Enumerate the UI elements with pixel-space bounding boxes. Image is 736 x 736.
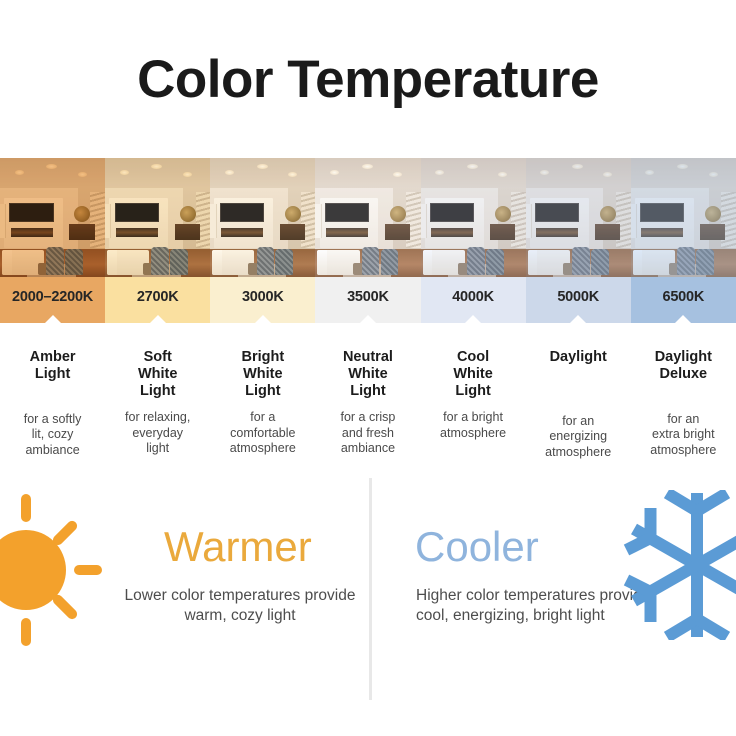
temperature-column: 6500K <box>631 158 736 323</box>
light-type-description-line: extra bright <box>652 427 715 441</box>
swatch-notch <box>149 315 167 323</box>
photo-glow-overlay <box>105 158 210 277</box>
room-photo <box>631 158 736 277</box>
light-type-name: CoolWhiteLight <box>426 349 521 400</box>
light-type-description-line: for an <box>667 412 699 426</box>
kelvin-swatch: 3500K <box>315 277 420 323</box>
light-type-name-line: White <box>138 366 177 382</box>
cooler-panel: Cooler Higher color temperatures provide… <box>372 478 736 708</box>
swatch-notch <box>254 315 272 323</box>
photo-glow-overlay <box>315 158 420 277</box>
light-type-name-line: Light <box>455 383 490 399</box>
kelvin-label: 5000K <box>557 289 599 305</box>
light-type-description-line: lit, cozy <box>32 427 74 441</box>
temperature-column: 4000K <box>421 158 526 323</box>
light-type-column: CoolWhiteLightfor a brightatmosphere <box>421 335 526 475</box>
light-type-name-line: Light <box>140 383 175 399</box>
kelvin-label: 4000K <box>452 289 494 305</box>
cooler-heading: Cooler <box>415 526 539 568</box>
light-type-description-line: comfortable <box>230 426 295 440</box>
snowflake-icon <box>622 490 736 640</box>
light-type-description: for a crispand freshambiance <box>320 410 415 456</box>
light-type-name-line: Daylight <box>550 349 607 365</box>
light-type-description-line: for a bright <box>443 410 503 424</box>
light-type-column: SoftWhiteLightfor relaxing,everydaylight <box>105 335 210 475</box>
room-photo <box>105 158 210 277</box>
light-type-description: for acomfortableatmosphere <box>215 410 310 456</box>
kelvin-label: 2700K <box>137 289 179 305</box>
swatch-notch <box>44 315 62 323</box>
light-type-name: BrightWhiteLight <box>215 349 310 400</box>
swatch-notch <box>569 315 587 323</box>
light-type-description-line: everyday <box>132 426 183 440</box>
light-type-description-line: atmosphere <box>545 445 611 459</box>
light-type-name-line: White <box>243 366 282 382</box>
warmer-heading: Warmer <box>164 526 312 568</box>
photo-glow-overlay <box>210 158 315 277</box>
room-photo <box>526 158 631 277</box>
light-type-column: AmberLightfor a softlylit, cozyambiance <box>0 335 105 475</box>
warm-cool-section: Warmer Lower color temperatures provide … <box>0 478 736 736</box>
kelvin-swatch: 6500K <box>631 277 736 323</box>
light-type-name-line: Bright <box>241 349 284 365</box>
light-type-description-line: energizing <box>549 429 607 443</box>
temperature-column: 3000K <box>210 158 315 323</box>
light-type-name-line: Deluxe <box>660 366 708 382</box>
room-photo <box>0 158 105 277</box>
light-type-name-line: Daylight <box>655 349 712 365</box>
light-type-column: NeutralWhiteLightfor a crispand freshamb… <box>315 335 420 475</box>
light-type-description: for anextra brightatmosphere <box>636 412 731 458</box>
room-photo <box>421 158 526 277</box>
kelvin-swatch: 5000K <box>526 277 631 323</box>
swatch-notch <box>674 315 692 323</box>
photo-glow-overlay <box>526 158 631 277</box>
light-type-column: DaylightDeluxefor anextra brightatmosphe… <box>631 335 736 475</box>
kelvin-swatch: 4000K <box>421 277 526 323</box>
light-type-column: BrightWhiteLightfor acomfortableatmosphe… <box>210 335 315 475</box>
kelvin-label: 3000K <box>242 289 284 305</box>
light-type-column: Daylightfor anenergizingatmosphere <box>526 335 631 475</box>
light-type-description: for relaxing,everydaylight <box>110 410 205 456</box>
swatch-notch <box>359 315 377 323</box>
page-title: Color Temperature <box>137 53 599 106</box>
temperature-column: 2000–2200K <box>0 158 105 323</box>
kelvin-label: 3500K <box>347 289 389 305</box>
light-type-name-line: Light <box>245 383 280 399</box>
kelvin-swatch: 2000–2200K <box>0 277 105 323</box>
kelvin-swatch: 3000K <box>210 277 315 323</box>
light-type-name: AmberLight <box>5 349 100 383</box>
kelvin-label: 2000–2200K <box>12 289 93 305</box>
room-photo <box>210 158 315 277</box>
light-type-description-line: for a crisp <box>340 410 395 424</box>
photo-glow-overlay <box>631 158 736 277</box>
light-type-name: Daylight <box>531 349 626 366</box>
room-photo <box>315 158 420 277</box>
light-type-description-line: atmosphere <box>440 426 506 440</box>
light-type-description-line: ambiance <box>25 443 79 457</box>
temperature-column: 5000K <box>526 158 631 323</box>
light-type-name-line: Soft <box>144 349 172 365</box>
warmer-description: Lower color temperatures provide warm, c… <box>118 586 362 626</box>
swatch-notch <box>464 315 482 323</box>
light-type-name-line: White <box>348 366 387 382</box>
temperature-column: 2700K <box>105 158 210 323</box>
light-type-description-line: ambiance <box>341 441 395 455</box>
color-temperature-strip: 2000–2200K2700K3000K3500K4000K5000K6500K <box>0 158 736 323</box>
sun-icon <box>0 500 96 640</box>
light-type-name-line: Cool <box>457 349 489 365</box>
light-type-description: for a brightatmosphere <box>426 410 521 441</box>
light-type-name: DaylightDeluxe <box>636 349 731 383</box>
light-type-description-line: for an <box>562 414 594 428</box>
light-type-name: NeutralWhiteLight <box>320 349 415 400</box>
light-type-description-line: atmosphere <box>230 441 296 455</box>
light-type-description-line: for relaxing, <box>125 410 190 424</box>
kelvin-swatch: 2700K <box>105 277 210 323</box>
kelvin-label: 6500K <box>662 289 704 305</box>
light-type-description: for anenergizingatmosphere <box>531 414 626 460</box>
light-type-description-line: and fresh <box>342 426 394 440</box>
description-row: AmberLightfor a softlylit, cozyambianceS… <box>0 335 736 475</box>
temperature-column: 3500K <box>315 158 420 323</box>
light-type-name-line: Light <box>350 383 385 399</box>
photo-glow-overlay <box>421 158 526 277</box>
light-type-description-line: light <box>146 441 169 455</box>
light-type-name-line: Amber <box>30 349 76 365</box>
light-type-name-line: Light <box>35 366 70 382</box>
light-type-description: for a softlylit, cozyambiance <box>5 412 100 458</box>
photo-glow-overlay <box>0 158 105 277</box>
light-type-name: SoftWhiteLight <box>110 349 205 400</box>
light-type-name-line: White <box>453 366 492 382</box>
light-type-name-line: Neutral <box>343 349 393 365</box>
warmer-panel: Warmer Lower color temperatures provide … <box>0 478 369 708</box>
light-type-description-line: for a <box>250 410 275 424</box>
title-area: Color Temperature <box>0 0 736 158</box>
light-type-description-line: atmosphere <box>650 443 716 457</box>
light-type-description-line: for a softly <box>24 412 82 426</box>
